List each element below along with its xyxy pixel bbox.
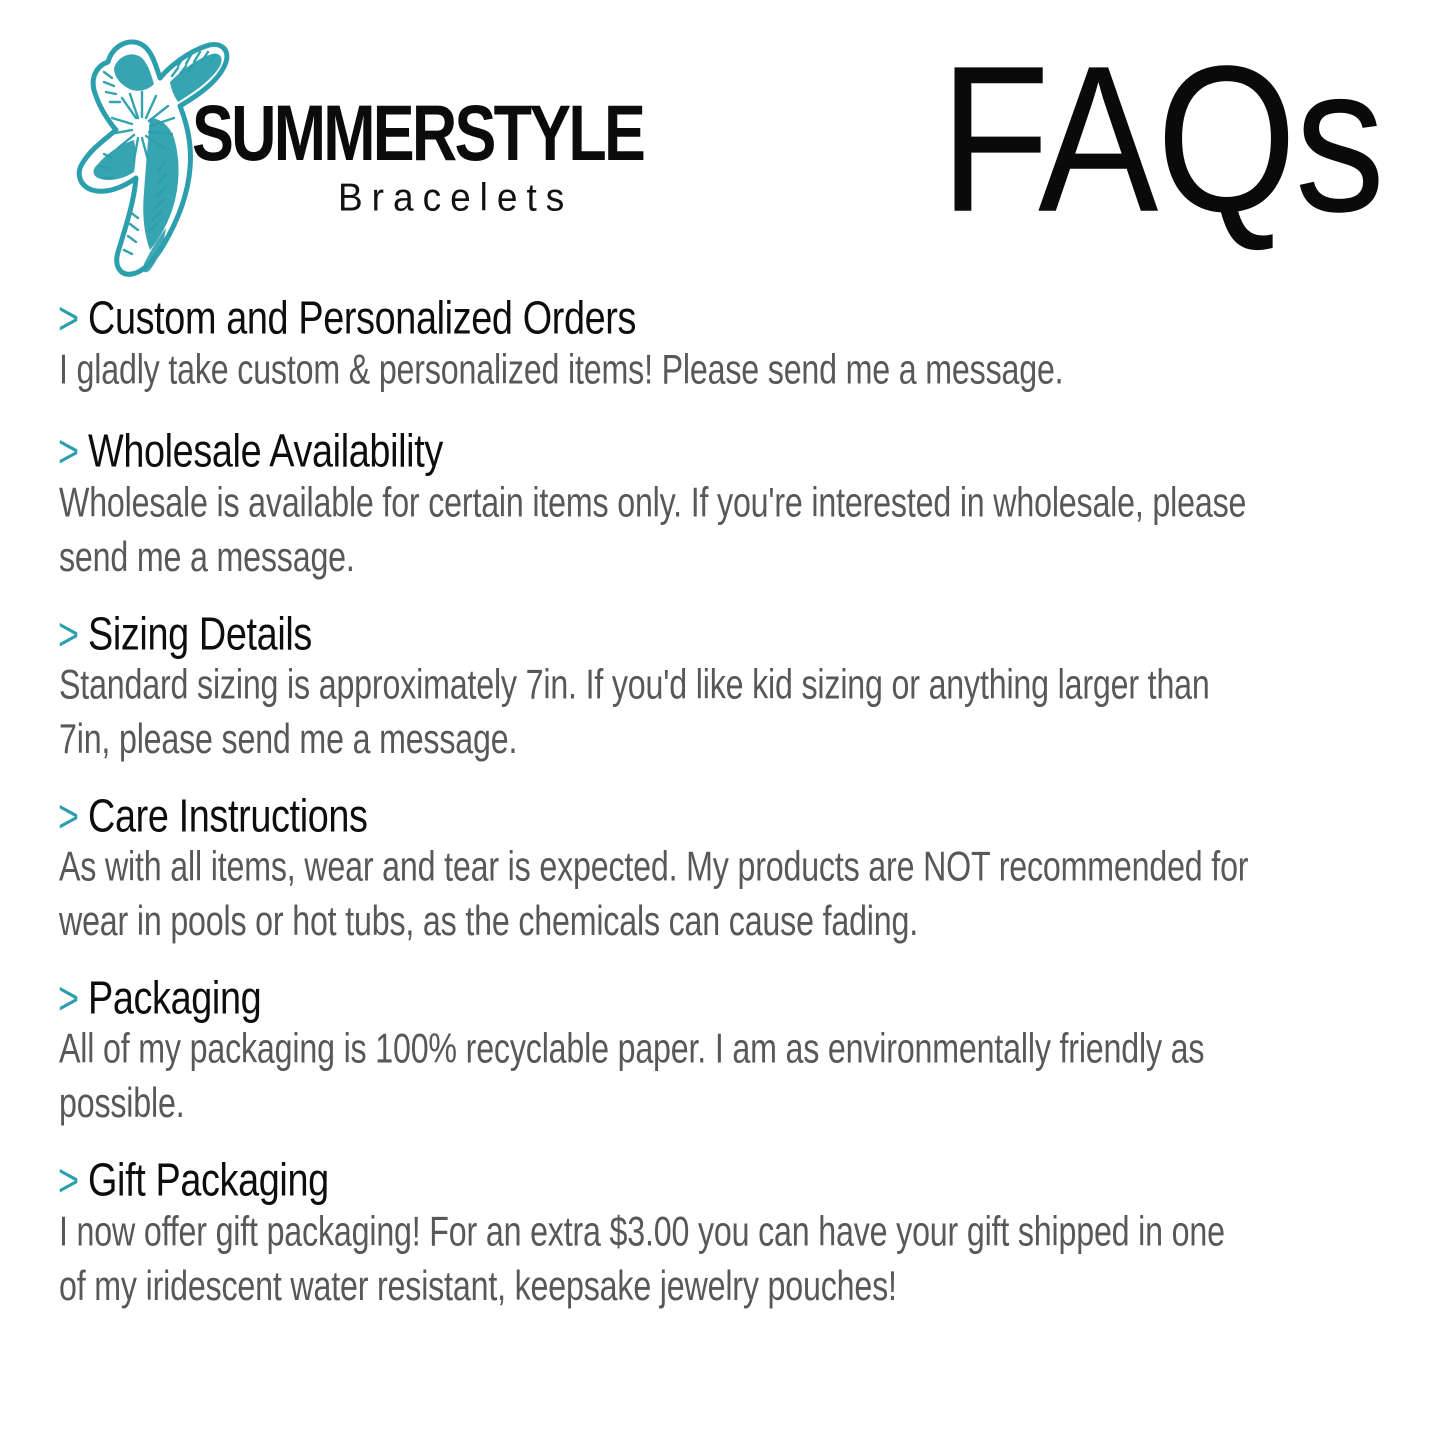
faq-answer: As with all items, wear and tear is expe… [59, 840, 1260, 949]
faq-question: Custom and Personalized Orders [88, 294, 636, 343]
faq-question: Packaging [88, 974, 261, 1023]
chevron-right-icon: > [58, 794, 85, 840]
faq-item-care-instructions: > Care Instructions As with all items, w… [58, 794, 1258, 938]
faq-question: Wholesale Availability [88, 427, 443, 476]
faq-question-row: > Gift Packaging [58, 1158, 1258, 1203]
chevron-right-icon: > [58, 296, 85, 342]
faq-answer: I now offer gift packaging! For an extra… [59, 1205, 1260, 1314]
brand-name: SummerStyle [192, 97, 605, 170]
faq-answer: All of my packaging is 100% recyclable p… [59, 1022, 1260, 1131]
brand-subtitle: Bracelets [338, 176, 672, 221]
chevron-right-icon: > [58, 429, 85, 475]
faq-item-sizing-details: > Sizing Details Standard sizing is appr… [58, 612, 1258, 756]
faq-question-row: > Sizing Details [58, 612, 1258, 657]
faq-item-wholesale-availability: > Wholesale Availability Wholesale is av… [58, 429, 1258, 573]
faq-question: Care Instructions [88, 791, 368, 840]
faq-answer: Standard sizing is approximately 7in. If… [59, 658, 1260, 767]
chevron-right-icon: > [58, 976, 85, 1022]
chevron-right-icon: > [58, 612, 85, 658]
faq-list: > Custom and Personalized Orders I gladl… [58, 296, 1258, 1302]
faq-item-custom-and-personalized-orders: > Custom and Personalized Orders I gladl… [58, 296, 1258, 391]
faq-question: Gift Packaging [88, 1156, 329, 1205]
brand-wordmark: SummerStyle Bracelets [192, 100, 672, 219]
faq-answer: Wholesale is available for certain items… [59, 476, 1260, 585]
faq-item-gift-packaging: > Gift Packaging I now offer gift packag… [58, 1158, 1258, 1302]
faq-question: Sizing Details [88, 609, 312, 658]
faq-question-row: > Packaging [58, 976, 1258, 1021]
page-title: FAQs [940, 36, 1383, 244]
page-header: SummerStyle Bracelets FAQs [0, 0, 1445, 290]
faq-item-packaging: > Packaging All of my packaging is 100% … [58, 976, 1258, 1120]
faq-question-row: > Care Instructions [58, 794, 1258, 839]
faq-page: SummerStyle Bracelets FAQs > Custom and … [0, 0, 1445, 1445]
faq-answer: I gladly take custom & personalized item… [59, 343, 1260, 398]
brand-lockup: SummerStyle Bracelets [52, 22, 672, 284]
faq-question-row: > Wholesale Availability [58, 429, 1258, 474]
faq-question-row: > Custom and Personalized Orders [58, 296, 1258, 341]
chevron-right-icon: > [58, 1158, 85, 1204]
